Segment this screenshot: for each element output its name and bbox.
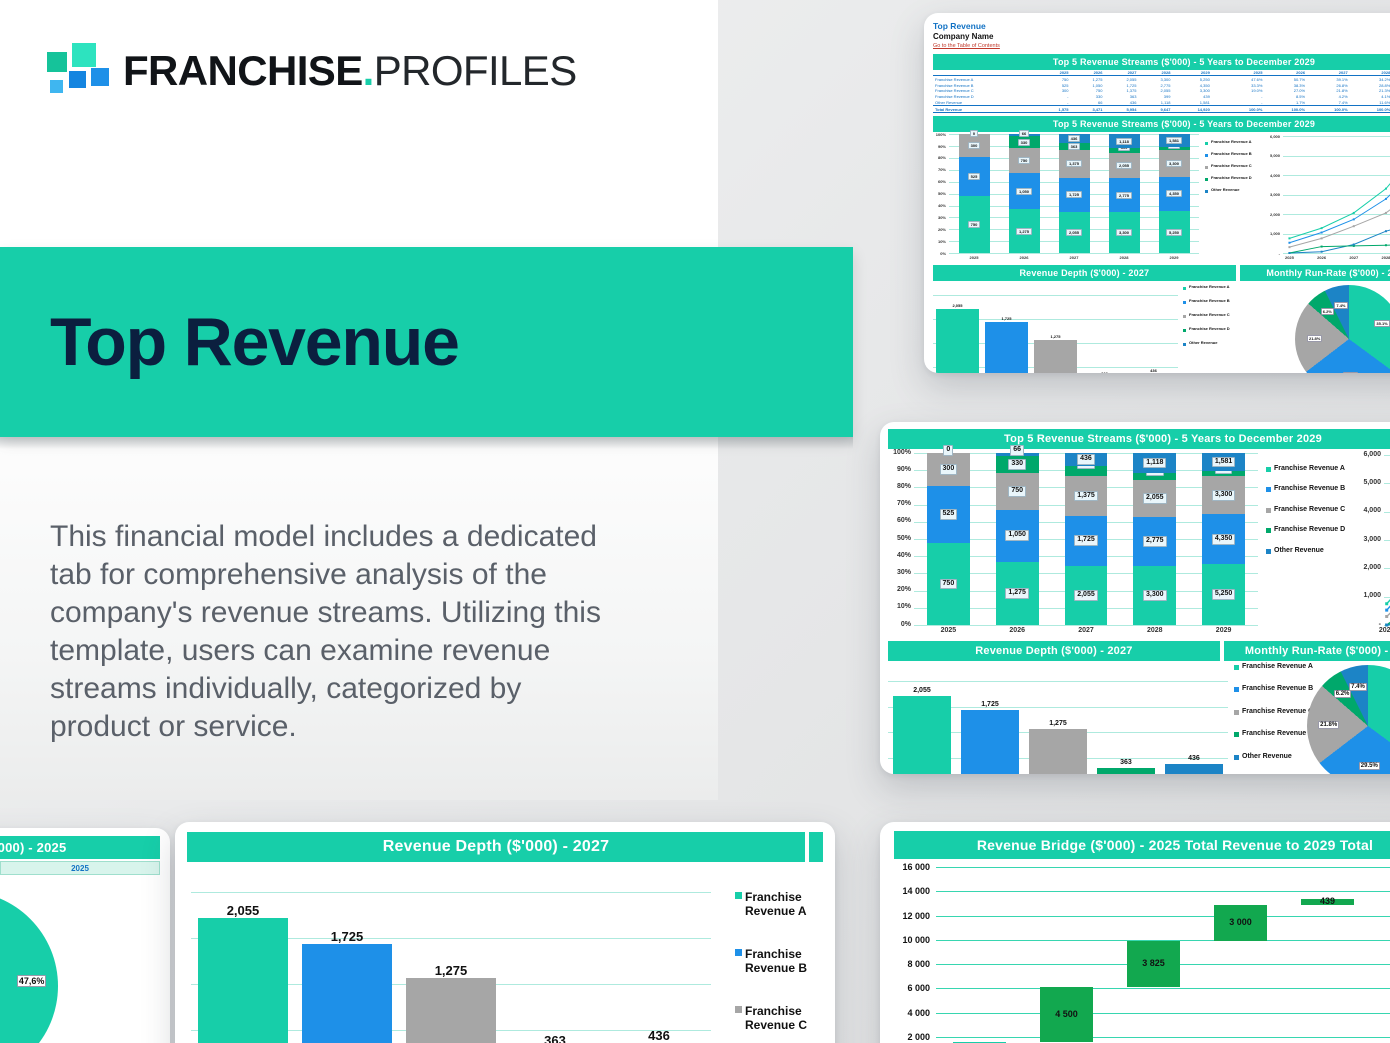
revenue-depth-big-title: Revenue Depth ($'000) - 2027 [187,832,805,862]
bar[interactable] [1034,340,1076,373]
stack-segment[interactable]: 1,375 [1059,150,1090,177]
stack-segment[interactable]: 1,725 [1065,516,1108,566]
stack-segment[interactable]: 1,275 [1009,209,1040,253]
legend-item: Franchise Revenue C [1266,506,1346,514]
legend-swatch-icon [735,892,742,899]
legend-label: Franchise Revenue A [1274,465,1345,473]
line-chart-small[interactable]: -1,0002,0003,0004,0005,0006,000202520262… [1263,132,1390,263]
pie-chart-title: Monthly Run-Rate ($'000) - 2027 [1224,641,1390,661]
revenue-table: 2025 2026 2027 2028 2029 2025 2026 2027 … [933,70,1390,113]
pie-chart[interactable]: 35.1%29.5%21.8%6.2%7.4% [1286,665,1390,774]
bar[interactable] [1097,768,1155,774]
stack-segment[interactable]: 330 [1009,136,1040,147]
stack-segment[interactable]: 1,118 [1109,134,1140,148]
legend-item: Franchise Revenue D [1266,526,1346,534]
data-label: 436 [1077,454,1095,465]
x-axis-tick: 2028 [1372,255,1390,260]
pie-slices[interactable] [0,891,58,1043]
legend-swatch-icon [1234,732,1239,737]
legend-swatch-icon [1234,755,1239,760]
legend-swatch-icon [1266,467,1271,472]
pie-chart-title-small: Monthly Run-Rate ($'000) - 2027 [1240,265,1390,281]
data-label: 3 825 [1127,958,1181,968]
legend-label: Other Revenue [1242,753,1292,761]
legend-swatch-icon [1183,343,1186,346]
x-axis-tick: 2028 [1099,255,1149,260]
stacked-chart-title: Top 5 Revenue Streams ($'000) - 5 Years … [888,429,1390,449]
legend-swatch-icon [1205,178,1208,181]
stack-segment[interactable]: 1,050 [996,510,1039,562]
data-label: 363 [1083,371,1125,373]
runrate-2025-card[interactable]: y Run-Rate ($'000) - 2025 2025 47,6%3,3%… [0,828,170,1043]
pie-label: 7.4% [1349,683,1367,691]
x-axis-tick: 2026 [1386,627,1390,634]
pie-year-tag-box: 2025 [0,861,160,875]
legend-label: Franchise Revenue A [745,890,830,919]
legend-swatch-icon [735,1006,742,1013]
pie-label: 7.4% [1334,302,1347,309]
y-axis-tick: 10% [888,603,911,610]
data-label: 3,300 [1166,160,1182,167]
data-label: 4,350 [1166,190,1182,197]
y-axis-tick: 100% [888,449,911,456]
data-label: 300 [940,464,958,475]
y-axis-tick: 70% [933,167,946,172]
gridline [936,988,1390,989]
legend-item: Franchise Revenue B [735,947,830,976]
data-label: 1,275 [1034,334,1076,339]
y-axis-tick: 0% [933,251,946,256]
revenue-depth-chart-small[interactable]: 2,0551,7251,275363436 [933,283,1178,373]
depth-title-row: Revenue Depth ($'000) - 2027 [187,832,823,862]
revenue-bridge-chart[interactable]: -2 0004 0006 0008 00010 00012 00014 0001… [890,863,1390,1043]
depth-chart-title: Revenue Depth ($'000) - 2027 [888,641,1220,661]
data-label: 66 [1010,445,1024,456]
legend-item: Other Revenue [1266,547,1346,555]
y-axis-tick: 80% [933,155,946,160]
pie-label: 21.8% [1307,335,1322,342]
legend-label: Franchise Revenue D [1211,176,1252,181]
data-label: 436 [614,1028,703,1043]
depth-body: 2,0551,7251,275363436 Franchise Revenue … [187,866,823,1043]
stack-segment[interactable]: 5,250 [1202,564,1245,625]
legend-label: Other Revenue [1211,188,1239,193]
y-axis-tick: 50% [888,535,911,542]
stack-segment[interactable]: 4,350 [1159,177,1190,212]
stack-segment[interactable]: 1,050 [1009,173,1040,209]
data-label: 436 [1165,755,1223,762]
legend-item: Franchise Revenue C [735,1004,830,1033]
x-axis-tick: 2029 [1149,255,1199,260]
stack-segment[interactable]: 3,300 [1159,150,1190,176]
line-series-svg [1350,451,1390,639]
data-label: 2,055 [198,903,287,918]
gridline [936,867,1390,868]
dashboard-subheading: Company Name [933,32,1390,43]
data-label: 436 [1132,368,1174,373]
hero-band-shadow [0,437,853,449]
legend-swatch-icon [1266,549,1271,554]
pie-label: 35.1% [1374,320,1389,327]
x-axis-tick: 2026 [999,255,1049,260]
data-label: 4,350 [1212,534,1236,545]
stack-segment[interactable]: 1,275 [996,562,1039,625]
data-label: 1,725 [985,316,1027,321]
stack-segment[interactable]: 2,055 [1059,212,1090,253]
x-axis-tick: 2027 [1049,255,1099,260]
bar[interactable] [198,918,287,1043]
legend-label: Franchise Revenue C [1189,313,1230,318]
revenue-depth-card[interactable]: Revenue Depth ($'000) - 2027 2,0551,7251… [175,822,835,1043]
gridline [936,916,1390,917]
legend-swatch-icon [1205,190,1208,193]
data-label: 2,055 [1074,590,1098,601]
data-label: 5,250 [1166,229,1182,236]
data-label: 2,775 [1116,192,1132,199]
stack-segment[interactable]: 3,300 [1202,476,1245,514]
data-label: 5,250 [1212,589,1236,600]
data-label: 0 [970,130,978,137]
stack-segment[interactable]: 436 [1059,134,1090,143]
y-axis-tick: 12 000 [890,911,930,921]
legend-swatch-icon [1183,329,1186,332]
revenue-depth-legend-big: Franchise Revenue AFranchise Revenue BFr… [735,890,830,1043]
stack-segment[interactable]: 750 [996,473,1039,510]
data-label: 330 [1018,139,1031,146]
stack-segment[interactable]: 750 [927,543,970,625]
legend-swatch-icon [1205,166,1208,169]
data-label: 750 [1008,486,1026,497]
data-label: 2,775 [1143,536,1167,547]
stack-segment[interactable]: 436 [1065,453,1108,466]
legend-label: Other Revenue [1189,341,1217,346]
data-label: 3,300 [1212,490,1236,501]
stacked-bar-chart[interactable]: 0%10%20%30%40%50%60%70%80%90%100%7505253… [888,451,1260,639]
stack-segment[interactable]: 750 [1009,148,1040,174]
chart-row-upper: 0%10%20%30%40%50%60%70%80%90%100%7505253… [933,132,1390,263]
chart-title-row-lower: Revenue Depth ($'000) - 2027 Monthly Run… [933,265,1390,281]
stacked-legend-small: Franchise Revenue AFranchise Revenue BFr… [1205,140,1263,200]
logo-mark-icon [47,43,109,99]
y-axis-tick: 6 000 [890,983,930,993]
table-of-contents-link[interactable]: Go to the Table of Contents [933,43,1390,50]
data-label: 1,581 [1212,457,1236,468]
legend-label: Franchise Revenue B [1189,299,1230,304]
pie-slices[interactable] [1307,665,1390,774]
hero-description: This financial model includes a dedicate… [50,518,625,747]
legend-item: Other Revenue [1205,188,1263,193]
x-axis-tick: 2025 [1275,255,1303,260]
y-axis-tick: 90% [933,144,946,149]
x-axis-tick: 2029 [1189,627,1258,634]
gridline [933,295,1178,296]
y-axis-tick: 0% [888,621,911,628]
stack-segment[interactable]: 750 [959,196,990,253]
y-axis-tick: 10% [933,239,946,244]
y-axis-tick: 60% [933,179,946,184]
legend-item: Franchise Revenue D [1183,327,1241,332]
stack-segment[interactable]: 300 [927,453,970,486]
data-label: 3,300 [1143,590,1167,601]
legend-swatch-icon [1234,710,1239,715]
data-label: 1,375 [1074,491,1098,502]
stack-segment[interactable]: 1,118 [1133,453,1176,473]
y-axis-tick: 90% [888,466,911,473]
legend-swatch-icon [1266,528,1271,533]
data-label: 1,725 [302,929,391,944]
legend-swatch-icon [735,949,742,956]
legend-swatch-icon [1266,487,1271,492]
stack-segment[interactable]: 300 [959,134,990,157]
legend-label: Franchise Revenue D [1274,526,1345,534]
stack-segment[interactable]: 1,581 [1159,134,1190,147]
stack-segment[interactable]: 399 [1133,473,1176,480]
gridline [949,253,1199,254]
table-total-row: Total Revenue1,5753,4715,9549,64714,9201… [933,106,1390,113]
runrate-2025-body: 2025 47,6%3,3%19,0%0,0%0,0% [0,859,170,1043]
y-axis-tick: 30% [933,215,946,220]
bar[interactable] [302,944,391,1043]
x-axis-tick: 2026 [983,627,1052,634]
pie-label: 6.2% [1334,690,1352,698]
stacked-chart-title-small: Top 5 Revenue Streams ($'000) - 5 Years … [933,116,1390,132]
data-label: 750 [968,221,981,228]
legend-label: Franchise Revenue C [1211,164,1252,169]
gridline [888,681,1228,682]
x-axis-tick: 2026 [1308,255,1336,260]
y-axis-tick: 70% [888,500,911,507]
legend-item: Other Revenue [1183,341,1241,346]
legend-swatch-icon [1205,142,1208,145]
brand-wordmark: FRANCHISE.PROFILES [123,50,577,92]
data-label: 1,275 [1005,588,1029,599]
chart-row-lower: 2,0551,7251,275363436 Franchise Revenue … [933,281,1390,373]
legend-swatch-icon [1205,154,1208,157]
stack-segment[interactable]: 363 [1059,143,1090,150]
y-axis-tick: 10 000 [890,935,930,945]
legend-label: Franchise Revenue A [1211,140,1252,145]
stack-segment[interactable]: 2,775 [1109,178,1140,212]
pie-label: 29.5% [1359,762,1380,770]
line-series-svg [1263,132,1390,263]
stack-segment[interactable]: 2,055 [1109,153,1140,178]
stack-segment[interactable]: 3,300 [1109,212,1140,253]
x-axis-tick: 2028 [1120,627,1189,634]
gridline [936,891,1390,892]
legend-label: Franchise Revenue C [1274,506,1345,514]
legend-swatch-icon [1266,508,1271,513]
data-label: 300 [968,142,981,149]
dashboard-heading: Top Revenue [933,21,1390,32]
brand-name-light: PROFILES [374,47,577,94]
legend-label: Franchise Revenue B [1274,485,1345,493]
legend-item: Franchise Revenue A [1183,285,1241,290]
pie-label: 21.8% [1318,721,1339,729]
data-label: 2,055 [936,303,978,308]
data-label: 525 [940,509,958,520]
x-axis-tick: 2025 [914,627,983,634]
data-label: 0 [943,445,953,456]
bar[interactable] [936,309,978,373]
y-axis-tick: 40% [888,552,911,559]
runrate-2025-header: y Run-Rate ($'000) - 2025 [0,828,170,859]
runrate-2025-title: y Run-Rate ($'000) - 2025 [0,836,160,859]
stack-segment[interactable]: 1,375 [1065,476,1108,516]
legend-swatch-icon [1183,315,1186,318]
y-axis-tick: 16 000 [890,862,930,872]
chart-row-upper-2: 0%10%20%30%40%50%60%70%80%90%100%7505253… [888,451,1390,639]
legend-item: Franchise Revenue D [1205,176,1263,181]
data-label: 363 [510,1033,599,1043]
gridline [191,892,711,893]
y-axis-tick: 14 000 [890,886,930,896]
bar[interactable] [1029,729,1087,774]
gridline [914,625,1258,626]
legend-item: Franchise Revenue A [735,890,830,919]
legend-label: Franchise Revenue C [745,1004,830,1033]
data-label: 363 [1068,143,1081,150]
revenue-depth-legend-small: Franchise Revenue AFranchise Revenue BFr… [1183,285,1241,355]
legend-item: Franchise Revenue C [1183,313,1241,318]
brand-dot: . [363,47,374,94]
bar[interactable] [893,696,951,774]
pie-slices[interactable] [1295,285,1390,373]
depth-chart-title-small: Revenue Depth ($'000) - 2027 [933,265,1236,281]
data-label: 2,055 [1066,229,1082,236]
legend-item: Franchise Revenue B [1205,152,1263,157]
stack-segment[interactable]: 2,055 [1133,480,1176,517]
revenue-depth-chart[interactable]: 2,0551,7251,275363436 [888,665,1228,774]
dashboard-header: Top Revenue Company Name Go to the Table… [933,21,1390,51]
stack-segment[interactable]: 3,300 [1133,566,1176,625]
stack-segment[interactable]: 330 [996,456,1039,472]
data-label: 1,725 [1074,535,1098,546]
stack-segment[interactable]: 66 [1009,134,1040,136]
stack-segment[interactable]: 2,055 [1065,566,1108,625]
revenue-bridge-card[interactable]: Revenue Bridge ($'000) - 2025 Total Reve… [880,822,1390,1043]
bar[interactable] [406,978,495,1043]
line-chart[interactable]: -1,0002,0003,0004,0005,0006,000202520262… [1350,451,1390,639]
stack-segment[interactable]: 1,725 [1059,178,1090,212]
data-label: 4 500 [1040,1009,1094,1019]
legend-item: Franchise Revenue A [1205,140,1263,145]
bar[interactable] [985,322,1027,373]
stack-segment[interactable]: 525 [927,486,970,543]
data-label: 1,050 [1016,188,1032,195]
pie-label: 6.2% [1321,308,1334,315]
data-label: 525 [968,173,981,180]
y-axis-tick: 40% [933,203,946,208]
legend-swatch-icon [1234,687,1239,692]
legend-label: Franchise Revenue B [745,947,830,976]
stack-segment[interactable]: 66 [996,453,1039,456]
stack-segment[interactable]: 439 [1202,471,1245,476]
revenue-bridge-title: Revenue Bridge ($'000) - 2025 Total Reve… [894,831,1390,859]
legend-item: Franchise Revenue A [1266,465,1346,473]
bar[interactable] [961,710,1019,774]
data-label: 439 [1301,896,1355,906]
data-label: 1,375 [1066,160,1082,167]
gridline [936,1037,1390,1038]
title-tail [809,832,823,862]
pie-label: 47,6% [17,975,47,987]
y-axis-tick: 8 000 [890,959,930,969]
y-axis-tick: 2 000 [890,1032,930,1042]
stack-segment[interactable]: 5,250 [1159,211,1190,253]
y-axis-tick: 4 000 [890,1008,930,1018]
data-label: 1,275 [1029,720,1087,727]
stack-segment[interactable]: 399 [1109,148,1140,153]
data-label: 3,300 [1116,229,1132,236]
stacked-legend: Franchise Revenue AFranchise Revenue BFr… [1266,465,1346,567]
gridline [936,1013,1390,1014]
legend-label: Franchise Revenue A [1189,285,1230,290]
data-label: 2,055 [1116,162,1132,169]
legend-swatch-icon [1234,665,1239,670]
data-label: 1,725 [1066,191,1082,198]
table-title: Top 5 Revenue Streams ($'000) - 5 Years … [933,54,1390,70]
data-label: 1,118 [1143,458,1166,469]
data-label: 436 [1068,135,1081,142]
brand-name-bold: FRANCHISE [123,47,363,94]
chart-title-row-lower-2: Revenue Depth ($'000) - 2027 Monthly Run… [888,641,1390,661]
pie-year-tag: 2025 [1,862,159,875]
legend-label: Franchise Revenue B [1211,152,1252,157]
y-axis-tick: 50% [933,191,946,196]
pie-label: 29.5% [1343,372,1358,373]
legend-item: Franchise Revenue B [1266,485,1346,493]
x-axis-tick: 2025 [949,255,999,260]
stack-segment[interactable]: 363 [1065,466,1108,476]
revenue-depth-bars-big[interactable]: 2,0551,7251,275363436 [191,866,711,1043]
data-label: 1,725 [961,701,1019,708]
data-label: 750 [940,579,958,590]
x-axis-tick: 2027 [1340,255,1368,260]
legend-swatch-icon [1183,301,1186,304]
stack-segment[interactable]: 525 [959,157,990,197]
data-label: 363 [1097,759,1155,766]
legend-label: Other Revenue [1274,547,1324,555]
data-label: 1,275 [406,963,495,978]
legend-item: Franchise Revenue C [1205,164,1263,169]
legend-swatch-icon [1183,287,1186,290]
bar[interactable] [1165,764,1223,774]
data-label: 1,275 [1016,228,1032,235]
legend-label: Franchise Revenue D [1189,327,1230,332]
stacked-bar-chart-small[interactable]: 0%10%20%30%40%50%60%70%80%90%100%7505253… [933,132,1201,263]
data-label: 1,050 [1005,530,1029,541]
pie-2025[interactable]: 47,6%3,3%19,0%0,0%0,0% [0,891,58,1043]
stack-segment[interactable]: 4,350 [1202,514,1245,564]
dashboard-card-top[interactable]: Top Revenue Company Name Go to the Table… [924,13,1390,373]
dashboard-card-middle[interactable]: Top 5 Revenue Streams ($'000) - 5 Years … [880,422,1390,774]
data-label: 66 [1019,130,1029,137]
y-axis-tick: 100% [933,132,946,137]
y-axis-tick: 80% [888,483,911,490]
stack-segment[interactable]: 1,581 [1202,453,1245,471]
data-label: 750 [1018,157,1031,164]
y-axis-tick: 60% [888,517,911,524]
stack-segment[interactable]: 439 [1159,147,1190,151]
pie-chart-small[interactable]: 35.1%29.5%21.8%6.2%7.4% [1263,285,1390,373]
y-axis-tick: 20% [933,227,946,232]
x-axis-tick: 2027 [1052,627,1121,634]
data-label: 3 000 [1214,917,1268,927]
y-axis-tick: 30% [888,569,911,576]
brand-logo: FRANCHISE.PROFILES [47,43,577,99]
page-title: Top Revenue [50,303,459,381]
stack-segment[interactable]: 2,775 [1133,517,1176,566]
